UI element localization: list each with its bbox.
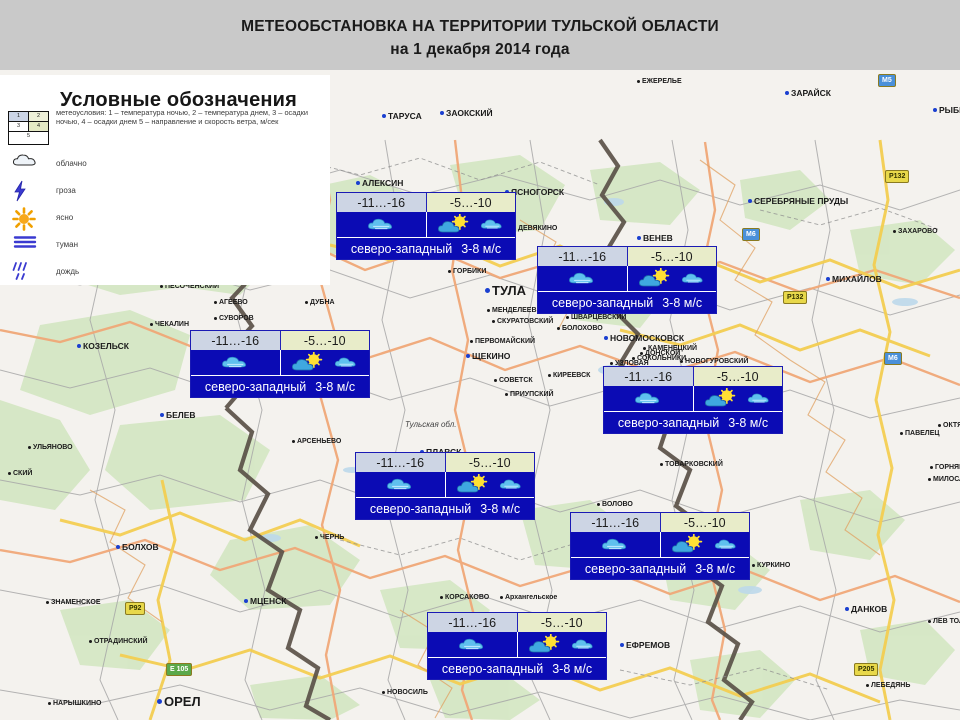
city-label: РЫБНОЕ [939,105,960,115]
cloud-blue-icon [747,392,772,404]
sun-cloud-icon [291,352,331,373]
lightning-icon [12,180,28,202]
legend-cell-5: 5 [9,132,48,144]
wind-speed: 3-8 м/с [695,562,735,576]
city-label: ПАВЕЛЕЦ [905,430,940,437]
city-label: КОЗЕЛЬСК [83,341,129,351]
map-city-ОТРАДИНСКИЙ[interactable]: ОТРАДИНСКИЙ [89,638,148,645]
map-city-НОВОГУРОВСКИЙ[interactable]: НОВОГУРОВСКИЙ [680,358,748,365]
night-precipitation-cell [337,212,427,237]
legend-item-label: ясно [56,213,73,222]
road-shield-M5[interactable]: M5 [878,74,896,87]
map-city-ПЕРВОМАЙСКИЙ[interactable]: ПЕРВОМАЙСКИЙ [470,338,535,345]
precipitation-row [571,532,749,557]
map-city-АРСЕНЬЕВО[interactable]: АРСЕНЬЕВО [292,438,341,445]
map-city-ДЕВЯКИНО[interactable]: ДЕВЯКИНО [513,225,557,232]
city-label: ЕФРЕМОВ [626,640,670,650]
city-marker-dot [866,684,869,687]
road-shield-label: M5 [882,77,892,84]
wind-direction: северо-западный [442,662,543,676]
legend-cell-4: 4 [29,122,48,131]
wind-direction: северо-западный [585,562,686,576]
wind-row: северо-западный3-8 м/с [191,375,369,397]
map-city-ЗАРАЙСК[interactable]: ЗАРАЙСК [785,88,831,98]
city-label: ЧЕКАЛИН [155,321,189,328]
city-label: СОВЕТСК [499,377,533,384]
map-city-МЦЕНСК[interactable]: МЦЕНСК [244,596,286,606]
city-marker-dot [928,620,931,623]
map-city-ЗНАМЕНСКОЕ[interactable]: ЗНАМЕНСКОЕ [46,599,101,606]
legend-item-туман: туман [0,234,330,261]
night-temperature-cell: -11…-16 [356,453,446,472]
map-city-ДАНКОВ[interactable]: ДАНКОВ [845,604,887,614]
night-temperature-cell: -11…-16 [604,367,694,386]
city-marker-dot [557,327,560,330]
fog-icon [12,234,38,250]
map-city-КОРСАКОВО[interactable]: КОРСАКОВО [440,594,489,601]
wind-row: северо-западный3-8 м/с [538,291,716,313]
night-precipitation-cell [428,632,518,657]
city-label: ПРИУПСКИЙ [510,391,554,398]
city-label: ШВАРЦЕВСКИЙ [571,314,626,321]
city-marker-dot [48,702,51,705]
sun-cloud-icon [528,634,568,655]
city-label: ЛЕБЕДЯНЬ [871,682,910,689]
city-marker-dot [382,114,386,118]
city-marker-dot [214,317,217,320]
day-precipitation-cell [628,266,717,291]
map-city-МИЛОСЛАВ[interactable]: МИЛОСЛАВ [928,476,960,483]
city-label: АГЕЕВО [219,299,248,306]
map-city-СУВОРОВ[interactable]: СУВОРОВ [214,315,254,322]
road-shield-label: E 105 [170,666,188,673]
wind-row: северо-западный3-8 м/с [571,557,749,579]
map-city-ОКТЯБРЬ[interactable]: ОКТЯБРЬ [938,422,960,429]
map-city-ЛЕБЕДЯНЬ[interactable]: ЛЕБЕДЯНЬ [866,682,910,689]
road-shield-label: M6 [746,231,756,238]
legend-item-дождь: дождь [0,261,330,288]
city-marker-dot [244,599,248,603]
city-label: ГОРБИКИ [453,268,486,275]
city-marker-dot [440,596,443,599]
city-marker-dot [292,440,295,443]
city-marker-dot [494,379,497,382]
city-label: ЗАРАЙСК [791,88,831,98]
cloud-blue-icon [714,538,739,550]
sun-icon [12,207,36,231]
day-precipitation-cell [446,472,535,497]
city-marker-dot [610,362,613,365]
day-precipitation-cell [694,386,783,411]
city-marker-dot [356,181,360,185]
road-shield-label: Р132 [787,294,803,301]
city-label: ЛЕВ ТОЛСТОЙ [933,618,960,625]
city-marker-dot [938,424,941,427]
road-shield-M6[interactable]: M6 [884,352,902,365]
sun-cloud-icon [638,268,678,289]
city-label: ДЕВЯКИНО [518,225,557,232]
city-marker-dot [89,640,92,643]
road-shield-label: M6 [888,355,898,362]
wind-speed: 3-8 м/с [461,242,501,256]
city-label: ЯСНОГОРСК [511,187,564,197]
legend-item-гроза: гроза [0,180,330,207]
city-label: УЛЬЯНОВО [33,444,73,451]
weather-box-kurkino-southeast[interactable]: -11…-16-5…-10 северо-западный3-8 м/с [570,512,750,580]
legend-cell-1: 1 [9,112,29,121]
page-title-line1: МЕТЕООБСТАНОВКА НА ТЕРРИТОРИИ ТУЛЬСКОЙ О… [0,0,960,36]
city-marker-dot [485,288,490,293]
city-marker-dot [566,316,569,319]
city-marker-dot [382,691,385,694]
map-city-ЗАОКСКИЙ[interactable]: ЗАОКСКИЙ [440,108,493,118]
city-marker-dot [77,344,81,348]
night-precipitation-cell [571,532,661,557]
sun-icon-wrapper [12,207,46,231]
city-label: НОВОСИЛЬ [387,689,428,696]
city-marker-dot [500,596,503,599]
temperature-row: -11…-16-5…-10 [191,331,369,350]
map-city-ТУЛА[interactable]: ТУЛА [485,283,526,298]
legend-cell-3: 3 [9,122,29,131]
rain-icon-wrapper [12,261,46,285]
page-header: МЕТЕООБСТАНОВКА НА ТЕРРИТОРИИ ТУЛЬСКОЙ О… [0,0,960,70]
map-city-РЫБНОЕ[interactable]: РЫБНОЕ [933,105,960,115]
city-label: БЕЛЕВ [166,410,196,420]
city-marker-dot [440,111,444,115]
road-shield-E 105[interactable]: E 105 [166,663,192,676]
city-label: ДАНКОВ [851,604,887,614]
map-city-УЛЬЯНОВО[interactable]: УЛЬЯНОВО [28,444,73,451]
day-temperature-cell: -5…-10 [518,613,607,632]
map-city-БОЛОХОВО[interactable]: БОЛОХОВО [557,325,603,332]
city-label: МИХАЙЛОВ [832,274,882,284]
map-city-ТОВАРКОВСКИЙ[interactable]: ТОВАРКОВСКИЙ [660,461,723,468]
day-precipitation-cell [281,350,370,375]
city-label: СКИЙ [13,470,32,477]
road-shield-label: Р132 [889,173,905,180]
rain-icon [12,261,30,281]
wind-row: северо-западный3-8 м/с [356,497,534,519]
road-shield-Р132[interactable]: Р132 [885,170,909,183]
legend-panel: Условные обозначения 1 2 3 4 5 метеоусло… [0,75,330,285]
city-marker-dot [470,340,473,343]
city-marker-dot [214,301,217,304]
wind-speed: 3-8 м/с [552,662,592,676]
cloud-blue-icon [681,272,706,284]
road-shield-Р205[interactable]: Р205 [854,663,878,676]
map-city-ДУБНА[interactable]: ДУБНА [305,299,335,306]
city-label: КИРЕЕВСК [553,372,590,379]
day-temperature-cell: -5…-10 [628,247,717,266]
map-city-МИХАЙЛОВ[interactable]: МИХАЙЛОВ [826,274,882,284]
city-label: ВЕНЕВ [643,233,673,243]
map-city-БОЛХОВ[interactable]: БОЛХОВ [116,542,159,552]
cloud-blue-icon [334,356,359,368]
cloud-blue-icon [499,478,524,490]
legend-item-label: дождь [56,267,79,276]
city-marker-dot [637,80,640,83]
temperature-row: -11…-16-5…-10 [337,193,515,212]
wind-speed: 3-8 м/с [480,502,520,516]
weather-box-plavsk-center[interactable]: -11…-16-5…-10 северо-западный3-8 м/с [355,452,535,520]
legend-sample-table: 1 2 3 4 5 [8,111,49,145]
city-marker-dot [752,564,755,567]
city-label: ОРЕЛ [164,694,201,709]
city-marker-dot [46,601,49,604]
city-label: ТАРУСА [388,111,422,121]
city-label: ОТРАДИНСКИЙ [94,638,148,645]
city-label: ПЕРВОМАЙСКИЙ [475,338,535,345]
city-label: ЗНАМЕНСКОЕ [51,599,101,606]
night-temperature-cell: -11…-16 [538,247,628,266]
wind-direction: северо-западный [351,242,452,256]
city-marker-dot [597,503,600,506]
precipitation-row [191,350,369,375]
map-city-БЕЛЕВ[interactable]: БЕЛЕВ [160,410,196,420]
wind-speed: 3-8 м/с [315,380,355,394]
city-marker-dot [660,463,663,466]
map-city-ЧЕКАЛИН[interactable]: ЧЕКАЛИН [150,321,189,328]
city-label: КОРСАКОВО [445,594,489,601]
day-temperature-cell: -5…-10 [446,453,535,472]
city-label: ОКТЯБРЬ [943,422,960,429]
night-precipitation-cell [191,350,281,375]
road-shield-label: Р92 [129,605,141,612]
map-city-СКИЙ[interactable]: СКИЙ [8,470,32,477]
day-temperature-cell: -5…-10 [661,513,750,532]
legend-items: облачно гроза ясно туман дождь [0,153,330,288]
city-label: ЗАХАРОВО [898,228,938,235]
map-city-КУРКИНО[interactable]: КУРКИНО [752,562,790,569]
city-marker-dot [28,446,31,449]
night-precipitation-cell [604,386,694,411]
night-precipitation-cell [356,472,446,497]
map-city-НОВОСИЛЬ[interactable]: НОВОСИЛЬ [382,689,428,696]
precipitation-row [356,472,534,497]
city-marker-dot [487,309,490,312]
map-city-ВОЛОВО[interactable]: ВОЛОВО [597,501,633,508]
city-label: МЦЕНСК [250,596,286,606]
city-marker-dot [305,301,308,304]
precipitation-row [538,266,716,291]
precipitation-row [604,386,782,411]
night-temperature-cell: -11…-16 [571,513,661,532]
wind-direction: северо-западный [370,502,471,516]
map-city-АЛЕКСИН[interactable]: АЛЕКСИН [356,178,403,188]
city-label: ДУБНА [310,299,335,306]
map-city-ЩЕКИНО[interactable]: ЩЕКИНО [466,351,510,361]
city-label: НАРЫШКИНО [53,700,101,707]
legend-item-label: гроза [56,186,76,195]
sun-cloud-icon [437,214,477,235]
city-label: ЗАОКСКИЙ [446,108,493,118]
road-shield-label: Р205 [858,666,874,673]
day-precipitation-cell [518,632,607,657]
weather-box-venev-north[interactable]: -11…-16-5…-10 северо-западный3-8 м/с [537,246,717,314]
city-marker-dot [785,91,789,95]
road-shield-M6[interactable]: M6 [742,228,760,241]
map-city-НОВОМОСКОВСК[interactable]: НОВОМОСКОВСК [604,333,684,343]
city-label: ГОРНЯЦКИЙ [935,464,960,471]
map-city-ОРЕЛ[interactable]: ОРЕЛ [157,694,201,709]
city-label: ДОНСКОЙ [645,350,680,357]
city-marker-dot [748,199,752,203]
temperature-row: -11…-16-5…-10 [428,613,606,632]
cloud-blue-icon [386,477,415,491]
city-label: Архангельское [505,594,557,601]
legend-cell-2: 2 [29,112,48,121]
legend-item-label: туман [56,240,78,249]
sun-cloud-icon [671,534,711,555]
map-city-ПАВЕЛЕЦ[interactable]: ПАВЕЛЕЦ [900,430,940,437]
wind-speed: 3-8 м/с [728,416,768,430]
day-precipitation-cell [661,532,750,557]
cloud-blue-icon [221,355,250,369]
city-label: БОЛХОВ [122,542,159,552]
night-temperature-cell: -11…-16 [191,331,281,350]
temperature-row: -11…-16-5…-10 [604,367,782,386]
day-temperature-cell: -5…-10 [427,193,516,212]
city-label: МЕНДЕЛЕЕВ [492,307,537,314]
cloud-blue-icon [367,217,396,231]
temperature-row: -11…-16-5…-10 [356,453,534,472]
city-marker-dot [893,230,896,233]
map-city-МЕНДЕЛЕЕВ[interactable]: МЕНДЕЛЕЕВ [487,307,537,314]
map-city-НАРЫШКИНО[interactable]: НАРЫШКИНО [48,700,101,707]
wind-direction: северо-западный [618,416,719,430]
city-marker-dot [8,472,11,475]
city-label: ЧЕРНЬ [320,534,344,541]
map-city-ТАРУСА[interactable]: ТАРУСА [382,111,422,121]
map-city-СКУРАТОВСКИЙ[interactable]: СКУРАТОВСКИЙ [492,318,553,325]
city-label: ЩЕКИНО [472,351,510,361]
day-precipitation-cell [427,212,516,237]
screenshot-root: ТАРУСАЗАОКСКИЙЕЖЕРЕЛЬЕЗАРАЙСКРЫБНОЕАЛЕКС… [0,0,960,720]
map-city-КОЗЕЛЬСК[interactable]: КОЗЕЛЬСК [77,341,129,351]
cloud-blue-icon [601,537,630,551]
fog-icon-wrapper [12,234,46,258]
city-label: ЕЖЕРЕЛЬЕ [642,78,682,85]
map-city-СОВЕТСК[interactable]: СОВЕТСК [494,377,533,384]
map-city-АГЕЕВО[interactable]: АГЕЕВО [214,299,248,306]
city-marker-dot [448,270,451,273]
city-label: СУВОРОВ [219,315,254,322]
city-marker-dot [620,643,624,647]
city-marker-dot [157,699,162,704]
legend-item-label: облачно [56,159,87,168]
map-city-Тульская обл.[interactable]: Тульская обл. [405,420,456,429]
city-marker-dot [845,607,849,611]
city-marker-dot [930,466,933,469]
map-city-ЕФРЕМОВ[interactable]: ЕФРЕМОВ [620,640,670,650]
wind-direction: северо-западный [552,296,653,310]
cloud-blue-icon [634,391,663,405]
city-marker-dot [640,352,643,355]
night-temperature-cell: -11…-16 [337,193,427,212]
city-marker-dot [160,413,164,417]
city-label: НОВОГУРОВСКИЙ [685,358,748,365]
map-city-СЕРЕБРЯНЫЕ ПРУДЫ[interactable]: СЕРЕБРЯНЫЕ ПРУДЫ [748,196,848,206]
city-label: АРСЕНЬЕВО [297,438,341,445]
city-marker-dot [548,374,551,377]
city-marker-dot [826,277,830,281]
city-label: КУРКИНО [757,562,790,569]
wind-speed: 3-8 м/с [662,296,702,310]
sun-cloud-icon [456,474,496,495]
map-city-ШВАРЦЕВСКИЙ[interactable]: ШВАРЦЕВСКИЙ [566,314,626,321]
road-shield-Р92[interactable]: Р92 [125,602,145,615]
map-city-КИРЕЕВСК[interactable]: КИРЕЕВСК [548,372,590,379]
city-label: НОВОМОСКОВСК [610,333,684,343]
cloud-blue-icon [458,637,487,651]
city-marker-dot [150,323,153,326]
page-title-line2: на 1 декабря 2014 года [0,36,960,59]
city-marker-dot [604,336,608,340]
weather-box-alexin-yasnogorsk[interactable]: -11…-16-5…-10 северо-западный3-8 м/с [336,192,516,260]
city-marker-dot [933,108,937,112]
city-label: БОЛОХОВО [562,325,603,332]
city-label: ТОВАРКОВСКИЙ [665,461,723,468]
map-city-ЗАХАРОВО[interactable]: ЗАХАРОВО [893,228,938,235]
temperature-row: -11…-16-5…-10 [538,247,716,266]
night-precipitation-cell [538,266,628,291]
map-city-ЧЕРНЬ[interactable]: ЧЕРНЬ [315,534,344,541]
map-city-ЕЖЕРЕЛЬЕ[interactable]: ЕЖЕРЕЛЬЕ [637,78,682,85]
cloud-blue-icon [568,271,597,285]
city-marker-dot [466,354,470,358]
city-marker-dot [116,545,120,549]
city-marker-dot [637,236,641,240]
map-city-ГОРНЯЦКИЙ[interactable]: ГОРНЯЦКИЙ [930,464,960,471]
temperature-row: -11…-16-5…-10 [571,513,749,532]
sun-cloud-icon [704,388,744,409]
city-marker-dot [492,320,495,323]
city-marker-dot [928,478,931,481]
weather-box-efremov-south[interactable]: -11…-16-5…-10 северо-западный3-8 м/с [427,612,607,680]
wind-direction: северо-западный [205,380,306,394]
precipitation-row [337,212,515,237]
city-label: ВОЛОВО [602,501,633,508]
map-city-ЛЕВ ТОЛСТОЙ[interactable]: ЛЕВ ТОЛСТОЙ [928,618,960,625]
day-temperature-cell: -5…-10 [281,331,370,350]
map-city-Архангельское[interactable]: Архангельское [500,594,557,601]
wind-row: северо-западный3-8 м/с [604,411,782,433]
precipitation-row [428,632,606,657]
legend-item-ясно: ясно [0,207,330,234]
lightning-icon-wrapper [12,180,46,204]
wind-row: северо-западный3-8 м/с [428,657,606,679]
wind-row: северо-западный3-8 м/с [337,237,515,259]
map-city-ДОНСКОЙ[interactable]: ДОНСКОЙ [640,350,680,357]
city-label: Тульская обл. [405,420,456,429]
city-marker-dot [315,536,318,539]
road-shield-Р132[interactable]: Р132 [783,291,807,304]
legend-description: метеоусловия: 1 – температура ночью, 2 –… [56,108,318,126]
city-label: АЛЕКСИН [362,178,403,188]
cloud-icon-wrapper [12,153,46,177]
map-city-ПРИУПСКИЙ[interactable]: ПРИУПСКИЙ [505,391,554,398]
map-city-ВЕНЕВ[interactable]: ВЕНЕВ [637,233,673,243]
city-marker-dot [900,432,903,435]
city-label: СЕРЕБРЯНЫЕ ПРУДЫ [754,196,848,206]
cloud-icon [12,153,38,168]
city-label: ТУЛА [492,283,526,298]
map-city-ГОРБИКИ[interactable]: ГОРБИКИ [448,268,486,275]
day-temperature-cell: -5…-10 [694,367,783,386]
weather-box-novomoskovsk-east[interactable]: -11…-16-5…-10 северо-западный3-8 м/с [603,366,783,434]
weather-box-belev-west[interactable]: -11…-16-5…-10 северо-западный3-8 м/с [190,330,370,398]
